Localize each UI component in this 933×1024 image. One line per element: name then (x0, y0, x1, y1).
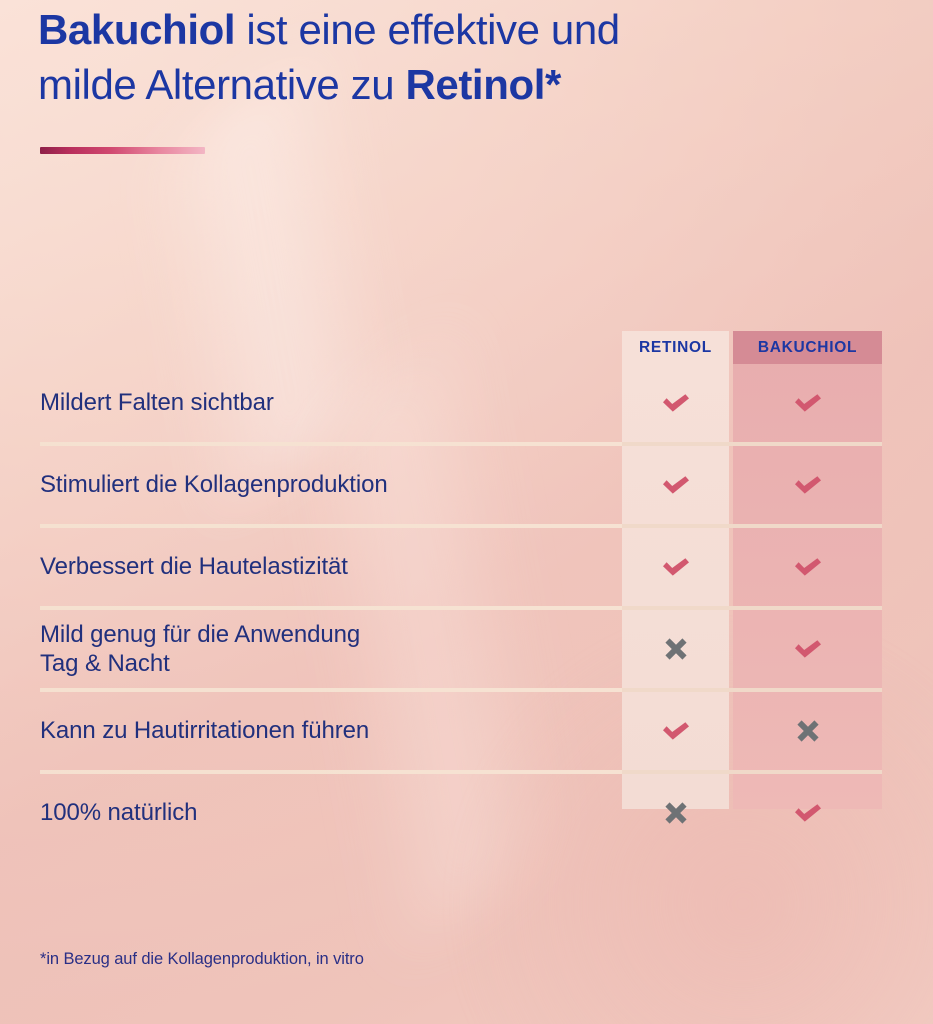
cell-bakuchiol-cross (733, 692, 882, 770)
cell-retinol-check (622, 528, 729, 606)
row-label-line: Verbessert die Hautelastizität (40, 552, 600, 581)
cross-icon (791, 714, 825, 748)
row-label: Mildert Falten sichtbar (40, 364, 600, 442)
cell-bakuchiol-check (733, 774, 882, 852)
row-label-line: Kann zu Hautirritationen führen (40, 716, 600, 745)
cell-retinol-cross (622, 774, 729, 852)
page-title-line2-rest: milde Alternative zu (38, 61, 405, 108)
comparison-table: RETINOL BAKUCHIOL Mildert Falten sichtba… (0, 331, 933, 809)
table-row: Mild genug für die AnwendungTag & Nacht (0, 610, 933, 688)
check-icon (791, 632, 825, 666)
accent-rule-divider (40, 147, 205, 154)
row-label: Kann zu Hautirritationen führen (40, 692, 600, 770)
column-header-bakuchiol: BAKUCHIOL (733, 331, 882, 364)
row-label-line: 100% natürlich (40, 798, 600, 827)
check-icon (659, 714, 693, 748)
check-icon (791, 386, 825, 420)
table-row: Stimuliert die Kollagenproduktion (0, 446, 933, 524)
cell-retinol-check (622, 692, 729, 770)
column-header-retinol: RETINOL (622, 331, 729, 364)
table-row: 100% natürlich (0, 774, 933, 852)
footnote: *in Bezug auf die Kollagenproduktion, in… (40, 950, 364, 969)
check-icon (659, 386, 693, 420)
row-label-line: Tag & Nacht (40, 649, 600, 678)
cross-icon (659, 632, 693, 666)
table-row: Kann zu Hautirritationen führen (0, 692, 933, 770)
cell-retinol-cross (622, 610, 729, 688)
check-icon (791, 550, 825, 584)
row-label: Mild genug für die AnwendungTag & Nacht (40, 610, 600, 688)
check-icon (659, 550, 693, 584)
check-icon (791, 468, 825, 502)
cell-bakuchiol-check (733, 528, 882, 606)
row-label: Verbessert die Hautelastizität (40, 528, 600, 606)
row-label: 100% natürlich (40, 774, 600, 852)
page-title-line1-rest: ist eine effektive und (235, 6, 620, 53)
check-icon (791, 796, 825, 830)
row-label: Stimuliert die Kollagenproduktion (40, 446, 600, 524)
cell-retinol-check (622, 446, 729, 524)
cell-retinol-check (622, 364, 729, 442)
check-icon (659, 468, 693, 502)
page-title-strong-retinol: Retinol* (405, 61, 560, 108)
cell-bakuchiol-check (733, 364, 882, 442)
page-title-strong-bakuchiol: Bakuchiol (38, 6, 235, 53)
row-label-line: Stimuliert die Kollagenproduktion (40, 470, 600, 499)
cell-bakuchiol-check (733, 610, 882, 688)
cell-bakuchiol-check (733, 446, 882, 524)
row-label-line: Mildert Falten sichtbar (40, 388, 600, 417)
row-label-line: Mild genug für die Anwendung (40, 620, 600, 649)
table-row: Verbessert die Hautelastizität (0, 528, 933, 606)
cross-icon (659, 796, 693, 830)
page-title: Bakuchiol ist eine effektive undmilde Al… (38, 2, 878, 113)
table-row: Mildert Falten sichtbar (0, 364, 933, 442)
